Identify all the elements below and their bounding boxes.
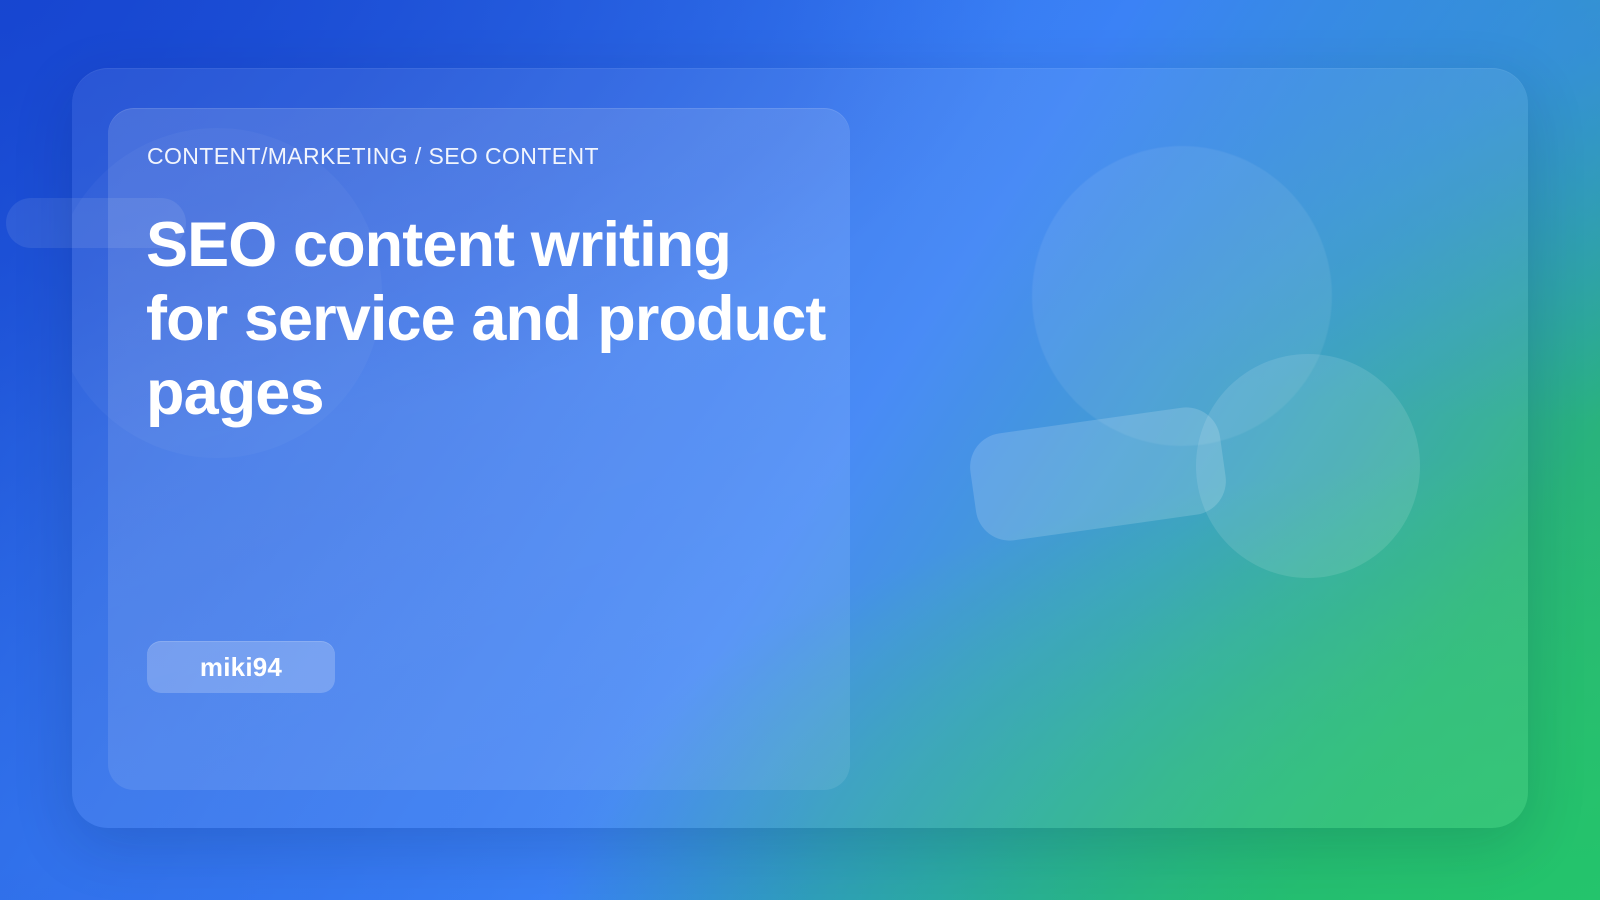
decor-large-circle-shape [1032,146,1332,446]
content-panel: CONTENT/MARKETING / SEO CONTENT SEO cont… [108,108,850,790]
decor-rounded-rect-shape [966,403,1231,545]
decor-small-circle-shape [1196,354,1420,578]
cover-card: CONTENT/MARKETING / SEO CONTENT SEO cont… [72,68,1528,828]
cover-canvas: CONTENT/MARKETING / SEO CONTENT SEO cont… [0,0,1600,900]
author-badge[interactable]: miki94 [147,641,335,693]
breadcrumb[interactable]: CONTENT/MARKETING / SEO CONTENT [147,143,599,170]
page-title: SEO content writing for service and prod… [146,208,826,430]
